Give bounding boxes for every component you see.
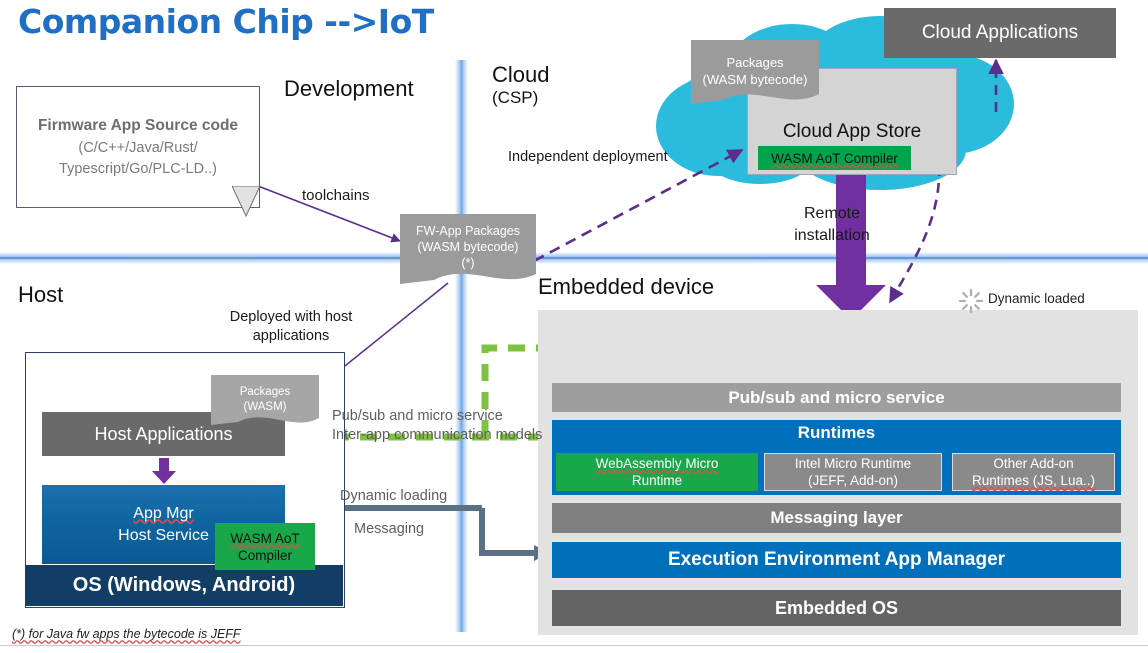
runtime-2-line2: Runtimes (JS, Lua..) <box>972 472 1095 489</box>
cloud-applications-box[interactable]: Cloud Applications <box>884 8 1116 58</box>
host-packages-line1: Packages <box>240 385 291 400</box>
embedded-os-band[interactable]: Embedded OS <box>552 590 1121 626</box>
firmware-box-fold-corner <box>232 186 272 222</box>
section-heading-development: Development <box>284 76 414 102</box>
cloud-wasm-aot-compiler-label: WASM AoT Compiler <box>771 151 898 166</box>
pubsub-connection-label: Pub/sub and micro service Inter-app comm… <box>332 407 542 445</box>
embedded-runtimes-title: Runtimes <box>798 423 875 443</box>
host-packages-callout[interactable]: Packages (WASM) <box>210 378 320 422</box>
pubsub-line1: Pub/sub and micro service <box>332 407 542 426</box>
fw-app-packages-callout[interactable]: FW-App Packages (WASM bytecode) (*) <box>398 214 538 280</box>
embedded-messaging-band[interactable]: Messaging layer <box>552 503 1121 533</box>
runtime-2-line1: Other Add-on <box>993 455 1073 472</box>
cloud-wasm-aot-compiler-box[interactable]: WASM AoT Compiler <box>758 146 911 170</box>
dynamic-loaded-legend-label: Dynamic loaded <box>988 291 1085 306</box>
host-os-bar[interactable]: OS (Windows, Android) <box>25 565 343 606</box>
host-packages-line2: (WASM) <box>243 400 286 415</box>
section-heading-host: Host <box>18 282 63 308</box>
cloud-heading-sub: (CSP) <box>492 88 549 108</box>
page-title: Companion Chip -->IoT <box>18 2 434 41</box>
host-wasm-aot-line1: WASM AoT <box>230 530 299 547</box>
deployed-with-host-apps-label: Deployed with host applications <box>206 308 376 346</box>
runtime-intel-micro[interactable]: Intel Micro Runtime (JEFF, Add-on) <box>764 453 942 491</box>
section-heading-embedded-device: Embedded device <box>538 274 714 300</box>
independent-deployment-label: Independent deployment <box>508 148 668 167</box>
section-heading-cloud: Cloud (CSP) <box>492 62 549 108</box>
runtime-webassembly-micro[interactable]: WebAssembly Micro Runtime <box>556 453 758 491</box>
bottom-divider <box>0 645 1148 646</box>
deployed-label-line2: applications <box>206 327 376 346</box>
host-apps-to-appmgr-arrow <box>151 458 177 484</box>
host-wasm-aot-compiler-box[interactable]: WASM AoT Compiler <box>215 523 315 570</box>
dynamic-loading-label: Dynamic loading <box>340 487 447 506</box>
runtime-1-line2: (JEFF, Add-on) <box>808 472 898 489</box>
runtime-other-addon[interactable]: Other Add-on Runtimes (JS, Lua..) <box>952 453 1115 491</box>
runtime-0-line2: Runtime <box>632 472 682 489</box>
remote-installation-line2: installation <box>762 225 902 247</box>
remote-installation-label: Remote installation <box>762 203 902 247</box>
cloud-heading-text: Cloud <box>492 62 549 87</box>
pubsub-line2: Inter-app communication models <box>332 426 542 445</box>
cloud-app-store-title: Cloud App Store <box>783 121 921 143</box>
cloud-packages-line1: Packages <box>726 54 783 71</box>
dynamic-loaded-spinner-icon <box>958 288 984 314</box>
fw-packages-line3: (*) <box>461 255 474 271</box>
cloud-packages-line2: (WASM bytecode) <box>703 71 808 88</box>
messaging-label: Messaging <box>354 520 424 539</box>
runtime-1-line1: Intel Micro Runtime <box>795 455 911 472</box>
embedded-app-manager-band[interactable]: Execution Environment App Manager <box>552 542 1121 578</box>
host-wasm-aot-line2: Compiler <box>238 547 292 564</box>
runtime-0-line1: WebAssembly Micro <box>596 455 719 472</box>
app-mgr-line1: App Mgr <box>133 503 193 525</box>
firmware-source-line1: (C/C++/Java/Rust/ <box>78 138 197 159</box>
fw-packages-line1: FW-App Packages <box>416 223 520 239</box>
deployed-label-line1: Deployed with host <box>206 308 376 327</box>
vertical-divider <box>455 60 468 632</box>
remote-installation-line1: Remote <box>762 203 902 225</box>
fw-packages-line2: (WASM bytecode) <box>418 239 519 255</box>
horizontal-divider <box>0 252 1148 264</box>
slide-canvas: Companion Chip -->IoT Development Cloud … <box>0 0 1148 653</box>
embedded-pubsub-band[interactable]: Pub/sub and micro service <box>552 383 1121 412</box>
footnote-text: (*) for Java fw apps the bytecode is JEF… <box>12 627 241 641</box>
firmware-source-code-box[interactable]: Firmware App Source code (C/C++/Java/Rus… <box>16 86 260 208</box>
cloud-packages-callout[interactable]: Packages (WASM bytecode) <box>689 44 821 98</box>
firmware-source-heading: Firmware App Source code <box>38 115 238 136</box>
toolchains-label: toolchains <box>302 186 370 205</box>
app-mgr-line2: Host Service <box>118 525 209 547</box>
firmware-source-line2: Typescript/Go/PLC-LD..) <box>59 159 217 180</box>
